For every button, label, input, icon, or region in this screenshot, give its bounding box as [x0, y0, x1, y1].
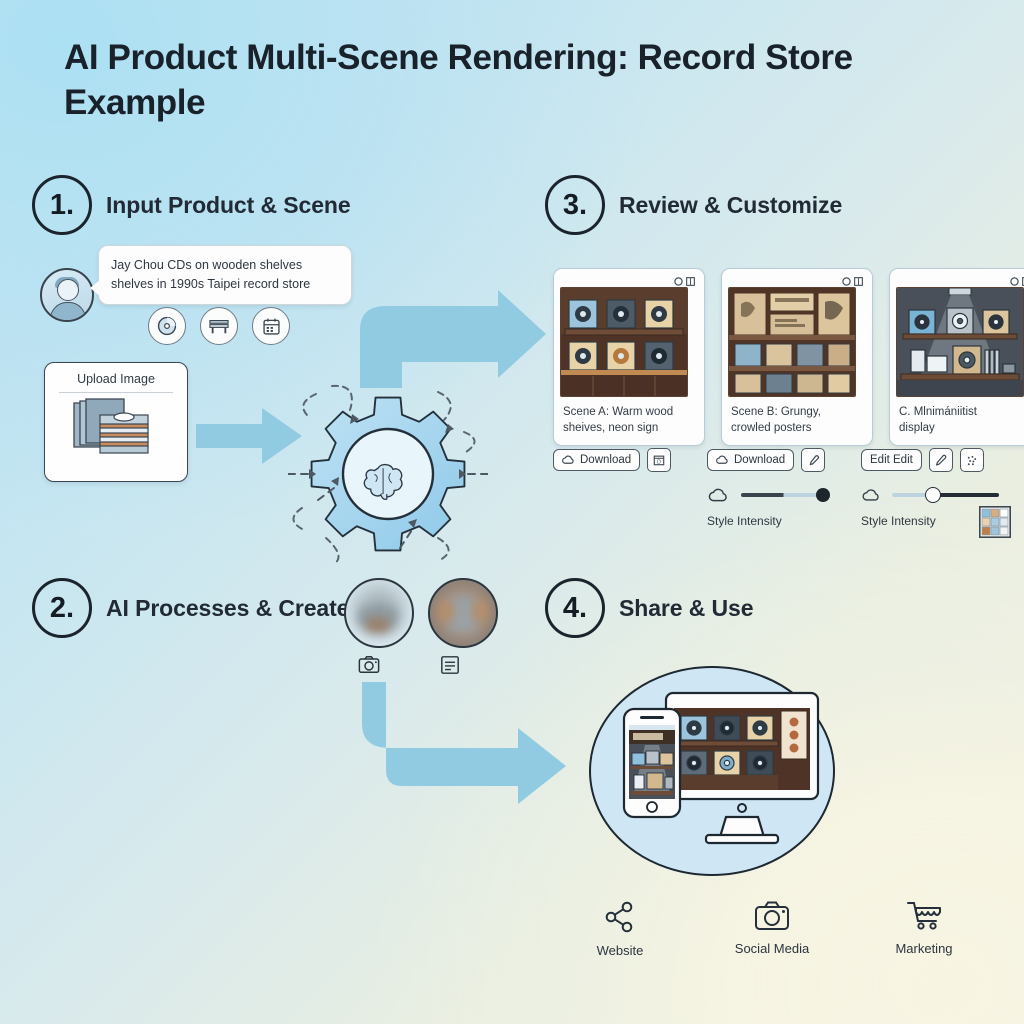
pencil-icon[interactable]	[929, 448, 953, 472]
result-card[interactable]: Scene A: Warm wood sheives, neon sign	[553, 268, 705, 446]
upload-image-card[interactable]: Upload Image	[44, 362, 188, 482]
download-button[interactable]: Download	[553, 449, 640, 471]
cloud-icon	[707, 486, 733, 504]
camera-icon[interactable]	[358, 655, 380, 680]
share-target-social-media[interactable]: Social Media	[722, 900, 822, 958]
card-header-icons	[896, 275, 1024, 287]
download-label: Download	[580, 454, 631, 466]
share-label: Website	[597, 943, 644, 958]
caption-line-2: sheives, neon sign	[563, 420, 695, 436]
step-3-number: 3.	[545, 175, 605, 235]
slider-track[interactable]	[892, 493, 999, 497]
style-intensity-slider-b[interactable]	[707, 486, 845, 504]
card-grid-icon	[854, 277, 863, 286]
svg-text:D: D	[657, 459, 661, 465]
card-action-rows: Download D Download	[553, 448, 999, 528]
step-4-header: 4. Share & Use	[545, 578, 753, 638]
step-2-number: 2.	[32, 578, 92, 638]
result-cards: Scene A: Warm wood sheives, neon sign	[553, 268, 1024, 446]
step-3-title: Review & Customize	[619, 192, 842, 219]
share-targets: Website Social Media Marketing	[570, 900, 974, 958]
card-caption: C. Mlnimániitist display	[896, 397, 1024, 437]
thumbnail-grungy-posters	[728, 287, 856, 397]
card-disc-icon	[842, 277, 851, 286]
edit-button[interactable]: Edit Edit	[861, 449, 922, 471]
step-2-header: 2. AI Processes & Creates	[32, 578, 362, 638]
page-title: AI Product Multi-Scene Rendering: Record…	[64, 36, 944, 126]
avatar	[40, 268, 94, 322]
generated-thumb-icons	[358, 655, 460, 680]
generated-thumb-2[interactable]	[428, 578, 498, 648]
thumbnail-warm-wood-shelves	[560, 287, 688, 397]
caption-line-1: Scene A: Warm wood	[563, 404, 695, 420]
result-card[interactable]: Scene B: Grungy, crowled posters	[721, 268, 873, 446]
download-label: Download	[734, 454, 785, 466]
share-target-website[interactable]: Website	[570, 900, 670, 958]
share-devices-illustration	[588, 665, 836, 877]
card-actions-c: Edit Edit	[861, 448, 999, 528]
step-4-number: 4.	[545, 578, 605, 638]
slider-knob[interactable]	[816, 488, 830, 502]
share-nodes-icon	[603, 900, 637, 934]
card-header-icons	[560, 275, 698, 287]
share-label: Marketing	[895, 941, 952, 956]
shelf-icon[interactable]	[200, 307, 238, 345]
result-card[interactable]: C. Mlnimániitist display	[889, 268, 1024, 446]
infographic-canvas: AI Product Multi-Scene Rendering: Record…	[0, 0, 1024, 1024]
card-actions-b: Download Style Intensity	[707, 448, 845, 528]
arrow-process-to-share	[358, 680, 570, 784]
caption-line-1: C. Mlnimániitist	[899, 404, 1024, 420]
calendar-box-icon[interactable]: D	[647, 448, 671, 472]
download-button[interactable]: Download	[707, 449, 794, 471]
card-disc-icon	[1010, 277, 1019, 286]
attribute-icon-row	[148, 307, 290, 345]
calendar-icon[interactable]	[252, 307, 290, 345]
ai-engine-gear	[288, 378, 488, 568]
cd-stack-illustration	[56, 395, 176, 469]
prompt-speech-bubble: Jay Chou CDs on wooden shelves shelves i…	[98, 245, 352, 305]
caption-line-1: Scene B: Grungy,	[731, 404, 863, 420]
cloud-download-icon	[716, 455, 729, 465]
share-target-marketing[interactable]: Marketing	[874, 900, 974, 958]
caption-line-2: display	[899, 420, 1024, 436]
card-header-icons	[728, 275, 866, 287]
style-intensity-slider-c[interactable]	[861, 486, 999, 504]
thumbnail-minimalist-display	[896, 287, 1024, 397]
generated-thumb-1[interactable]	[344, 578, 414, 648]
card-actions-a: Download D	[553, 448, 691, 528]
caption-line-2: crowled posters	[731, 420, 863, 436]
step-1-number: 1.	[32, 175, 92, 235]
upload-card-label: Upload Image	[59, 363, 173, 393]
step-2-title: AI Processes & Creates	[106, 595, 362, 622]
document-icon[interactable]	[440, 655, 460, 680]
edit-label: Edit Edit	[870, 454, 913, 466]
step-3-header: 3. Review & Customize	[545, 175, 842, 235]
slider-knob[interactable]	[925, 487, 941, 503]
sparkle-icon[interactable]	[960, 448, 984, 472]
shop-cart-icon	[906, 900, 942, 932]
cd-disc-icon[interactable]	[148, 307, 186, 345]
cloud-download-icon	[562, 455, 575, 465]
eyedropper-icon[interactable]	[801, 448, 825, 472]
share-label: Social Media	[735, 941, 809, 956]
step-1-header: 1. Input Product & Scene	[32, 175, 351, 235]
generated-thumbnails	[344, 578, 498, 648]
camera-icon	[754, 900, 790, 932]
prompt-line-2: shelves in 1990s Taipei record store	[111, 275, 339, 294]
card-grid-icon	[686, 277, 695, 286]
card-caption: Scene A: Warm wood sheives, neon sign	[560, 397, 698, 437]
card-disc-icon	[674, 277, 683, 286]
color-palette-icon[interactable]	[979, 506, 1011, 543]
slider-track[interactable]	[741, 493, 823, 497]
style-intensity-label: Style Intensity	[707, 514, 845, 528]
cloud-icon	[861, 486, 884, 504]
avatar-body	[50, 302, 86, 322]
avatar-head	[57, 279, 79, 301]
step-4-title: Share & Use	[619, 595, 753, 622]
card-caption: Scene B: Grungy, crowled posters	[728, 397, 866, 437]
step-1-title: Input Product & Scene	[106, 192, 351, 219]
prompt-line-1: Jay Chou CDs on wooden shelves	[111, 256, 339, 275]
